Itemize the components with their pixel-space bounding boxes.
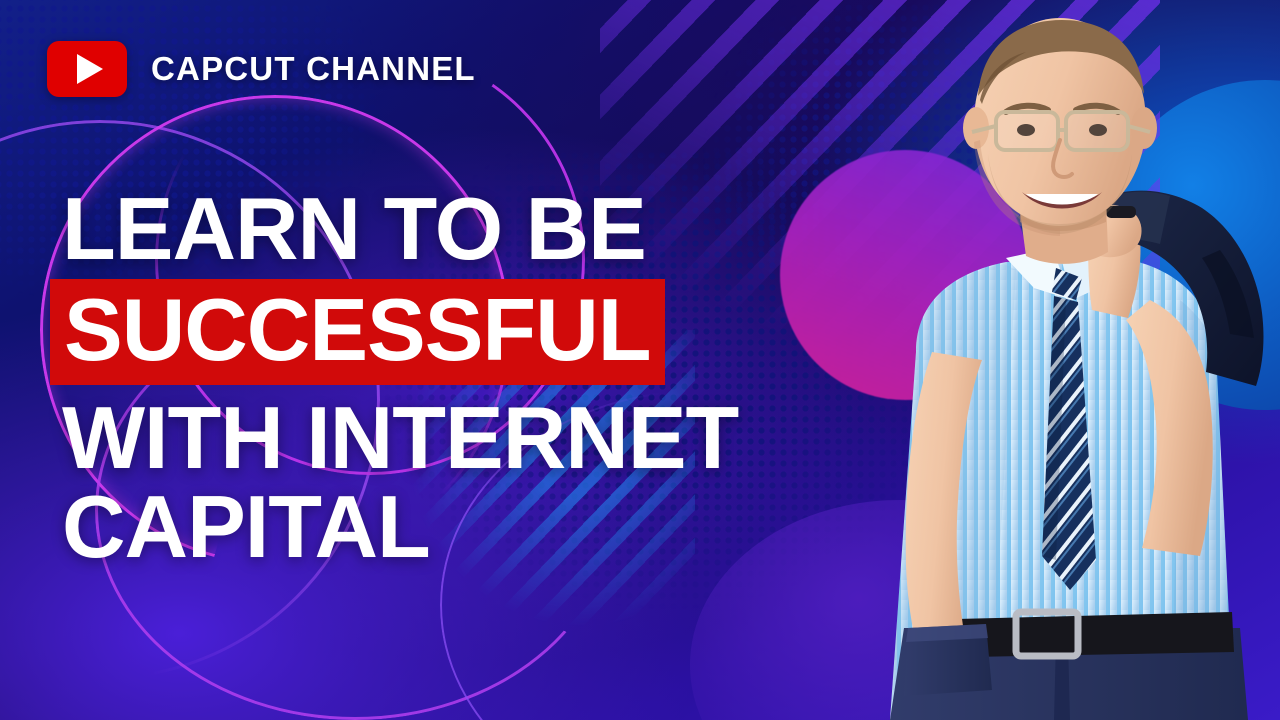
belt <box>914 612 1234 658</box>
neck <box>1018 196 1108 264</box>
trousers <box>890 628 1248 720</box>
left-hand <box>916 632 976 672</box>
headline-line-2: SUCCESSFUL <box>64 287 651 372</box>
channel-badge[interactable]: CAPCUT CHANNEL <box>47 41 476 97</box>
hair <box>978 20 1144 96</box>
necktie <box>1042 296 1096 590</box>
necktie-knot <box>1052 268 1082 300</box>
headline-line-1: LEARN TO BE <box>62 186 882 271</box>
blue-circle-decoration <box>1100 80 1280 410</box>
dress-shirt <box>890 258 1234 720</box>
headline-highlight-box: SUCCESSFUL <box>50 279 665 384</box>
thumbnail-canvas: CAPCUT CHANNEL LEARN TO BE SUCCESSFUL WI… <box>0 0 1280 720</box>
headline-block: LEARN TO BE SUCCESSFUL WITH INTERNET CAP… <box>62 186 882 569</box>
presenter-photo <box>820 0 1280 720</box>
belt-buckle <box>1016 612 1078 656</box>
head <box>974 18 1146 226</box>
right-arm <box>1126 300 1213 556</box>
play-triangle-icon <box>77 54 103 84</box>
mouth <box>1022 192 1102 209</box>
youtube-play-icon[interactable] <box>47 41 127 97</box>
right-hand <box>1078 205 1142 257</box>
wristband <box>1106 206 1136 218</box>
headline-line-4: CAPITAL <box>62 484 882 569</box>
left-arm <box>906 352 982 668</box>
channel-name-label: CAPCUT CHANNEL <box>151 50 476 88</box>
suit-jacket <box>1106 191 1263 386</box>
headline-line-3: WITH INTERNET <box>62 395 882 480</box>
eyeglasses <box>972 112 1150 150</box>
